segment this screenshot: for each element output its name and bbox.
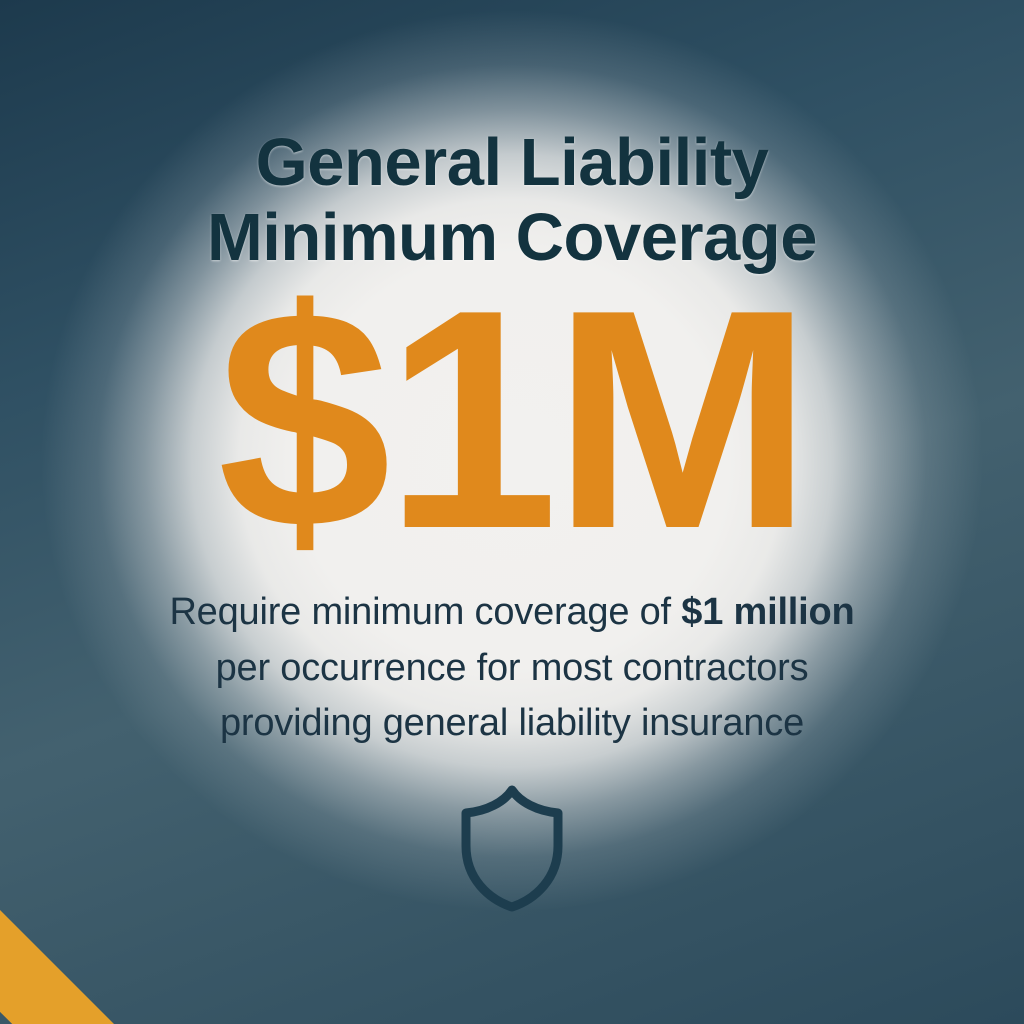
body-copy-line-1: Require minimum coverage of $1 million — [112, 585, 912, 640]
body-copy-line-2: per occurrence for most contractors — [112, 641, 912, 696]
page-title-line-1: General Liability — [132, 126, 892, 201]
body-copy-emphasis: $1 million — [681, 591, 854, 633]
body-copy: Require minimum coverage of $1 million p… — [112, 585, 912, 750]
body-copy-line-3: providing general liability insurance — [112, 696, 912, 751]
body-copy-line-1-prefix: Require minimum coverage of — [169, 591, 681, 633]
stat-value: $1M — [218, 289, 807, 551]
shield-icon — [454, 783, 570, 913]
infographic-card: General Liability Minimum Coverage $1M R… — [0, 0, 1024, 1024]
card-content: General Liability Minimum Coverage $1M R… — [0, 0, 1024, 1024]
